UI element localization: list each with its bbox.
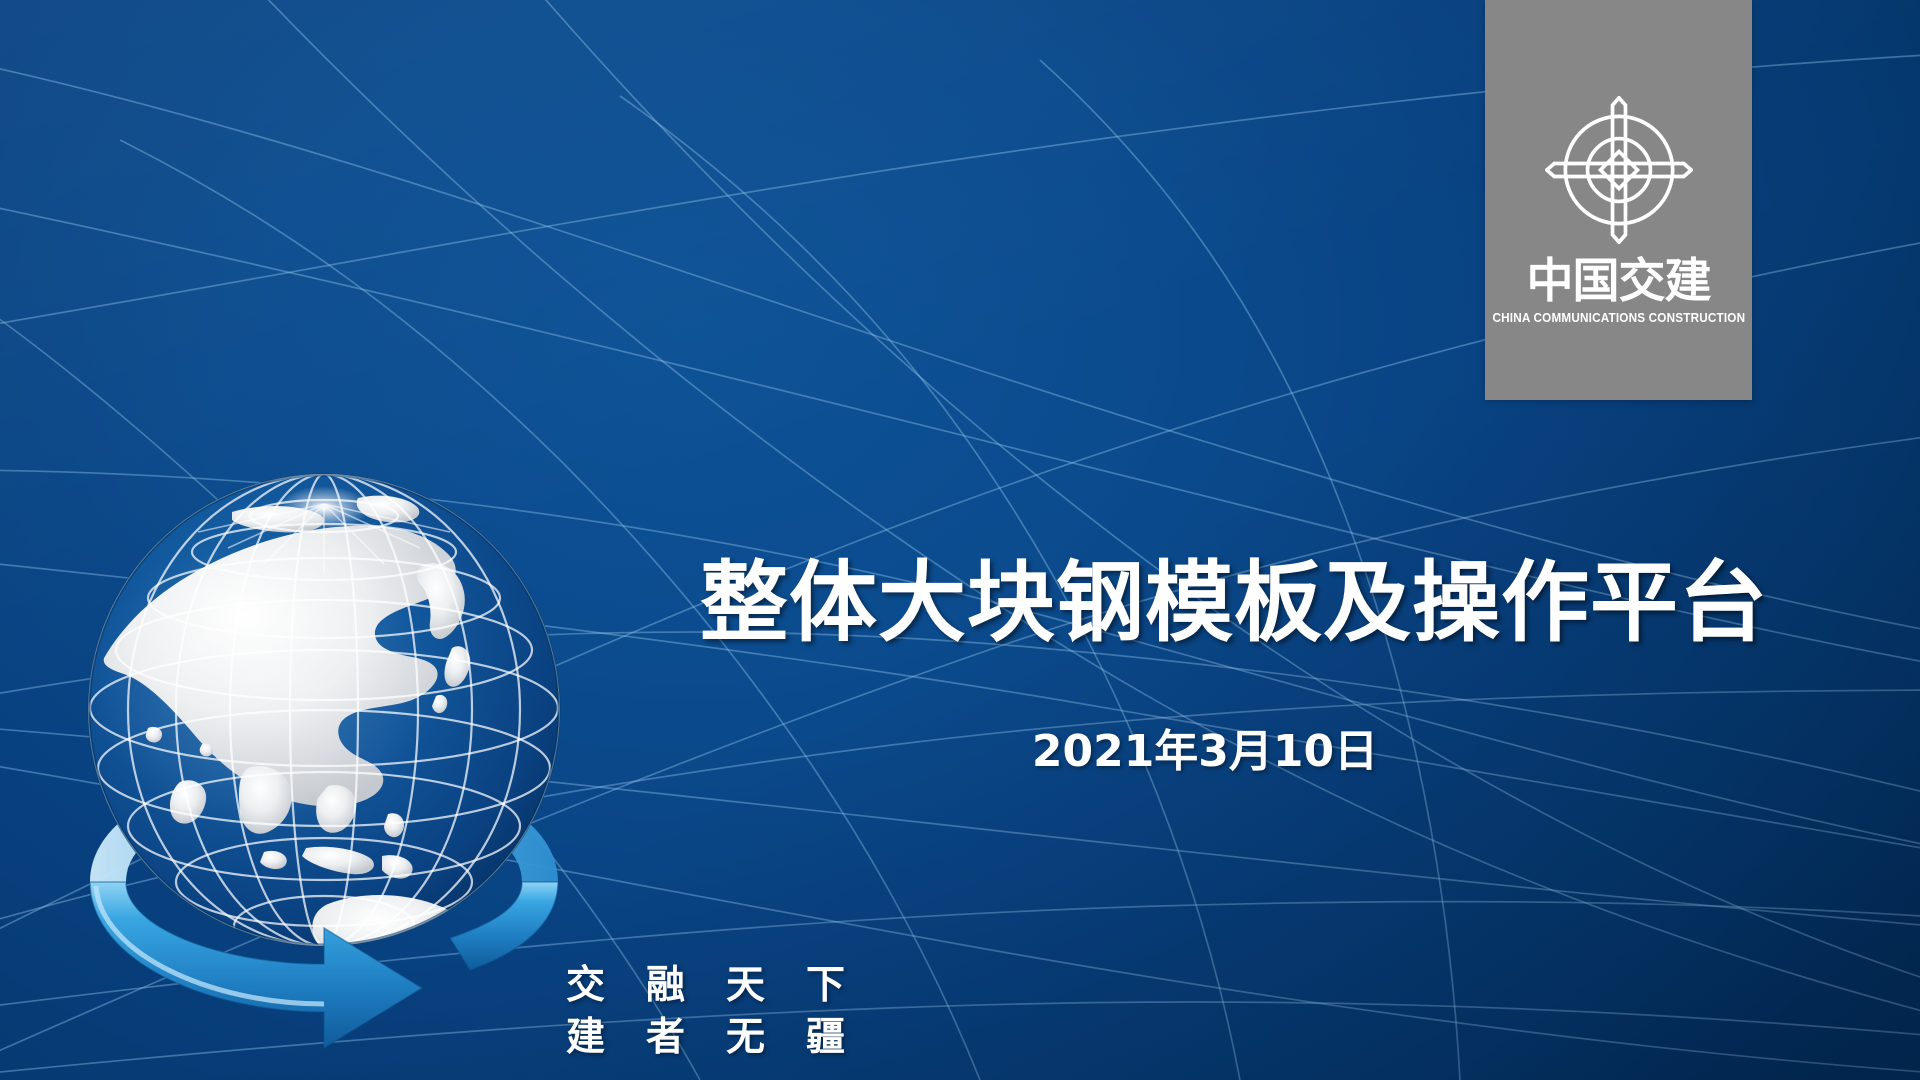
- slogan-line-2: 建者无疆: [566, 1012, 886, 1064]
- corporate-slogan: 交融天下 建者无疆: [566, 960, 886, 1064]
- slide-date: 2021年3月10日: [700, 728, 1710, 776]
- corporate-logo-panel: 中国交建 CHINA COMMUNICATIONS CONSTRUCTION: [1485, 0, 1752, 400]
- company-name-en: CHINA COMMUNICATIONS CONSTRUCTION: [1492, 312, 1745, 325]
- globe-specular: [278, 486, 370, 530]
- presentation-slide: 中国交建 CHINA COMMUNICATIONS CONSTRUCTION 整…: [0, 0, 1920, 1080]
- company-name-cn: 中国交建: [1527, 258, 1711, 305]
- slogan-line-1: 交融天下: [566, 960, 886, 1012]
- title-block: 整体大块钢模板及操作平台 2021年3月10日: [700, 555, 1710, 776]
- cccc-compass-interchange-icon: [1545, 96, 1693, 244]
- slide-title: 整体大块钢模板及操作平台: [700, 555, 1710, 650]
- globe-sphere: [88, 474, 560, 978]
- globe-graphic: [52, 452, 612, 1072]
